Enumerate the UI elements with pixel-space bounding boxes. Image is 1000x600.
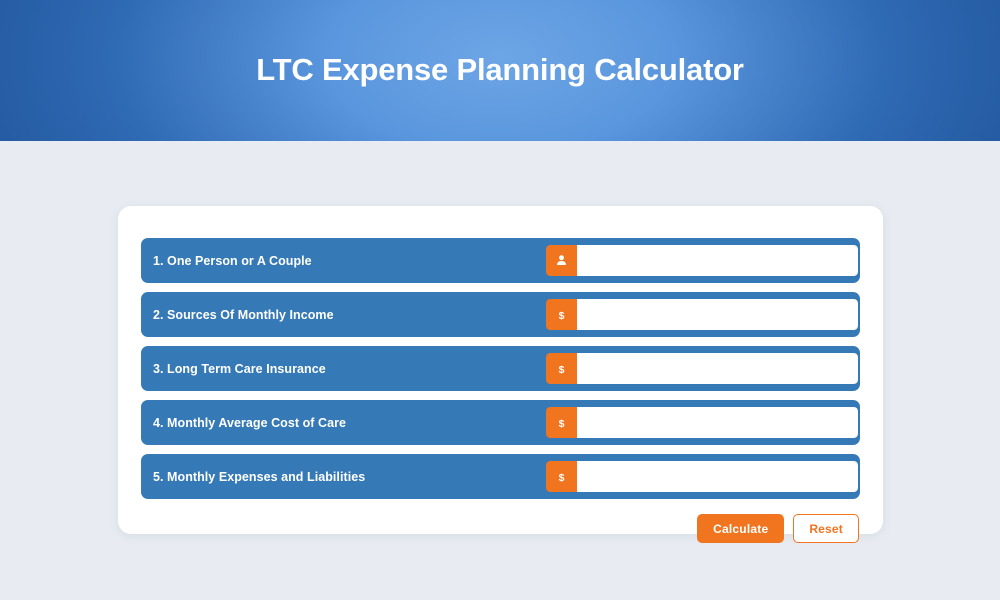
caret-up-icon[interactable] [833,308,847,322]
page-title: LTC Expense Planning Calculator [256,54,744,85]
caret-up-icon[interactable] [833,362,847,376]
dollar-icon: $ [546,299,577,330]
calculator-card: 1. One Person or A Couple 2. Sou [118,206,883,534]
input-group: $ [546,407,858,438]
caret-up-icon[interactable] [833,470,847,484]
accordion-row[interactable]: 4. Monthly Average Cost of Care $ [141,400,860,445]
input-group: $ [546,353,858,384]
dollar-icon: $ [546,407,577,438]
row-value-input[interactable] [577,299,858,330]
dollar-icon: $ [546,461,577,492]
caret-up-icon[interactable] [833,254,847,268]
page-body: 1. One Person or A Couple 2. Sou [0,141,1000,600]
row-value-input[interactable] [577,407,858,438]
accordion-row-label: 3. Long Term Care Insurance [153,362,326,376]
caret-up-icon[interactable] [833,416,847,430]
dollar-icon: $ [546,353,577,384]
svg-text:$: $ [559,471,565,483]
accordion-row-label: 1. One Person or A Couple [153,254,312,268]
reset-button[interactable]: Reset [793,514,859,543]
accordion-row-label: 5. Monthly Expenses and Liabilities [153,470,365,484]
svg-text:$: $ [559,309,565,321]
accordion-row[interactable]: 3. Long Term Care Insurance $ [141,346,860,391]
svg-text:$: $ [559,363,565,375]
input-group: $ [546,299,858,330]
person-icon [546,245,577,276]
action-bar: Calculate Reset [141,514,860,543]
row-value-input[interactable] [577,245,858,276]
calculate-button[interactable]: Calculate [697,514,784,543]
page-header: LTC Expense Planning Calculator [0,0,1000,141]
input-group [546,245,858,276]
svg-text:$: $ [559,417,565,429]
accordion-row-label: 2. Sources Of Monthly Income [153,308,334,322]
row-value-input[interactable] [577,353,858,384]
accordion-row[interactable]: 5. Monthly Expenses and Liabilities $ [141,454,860,499]
row-value-input[interactable] [577,461,858,492]
accordion-row[interactable]: 1. One Person or A Couple [141,238,860,283]
accordion-row-label: 4. Monthly Average Cost of Care [153,416,346,430]
input-group: $ [546,461,858,492]
accordion-row[interactable]: 2. Sources Of Monthly Income $ [141,292,860,337]
accordion-row-list: 1. One Person or A Couple 2. Sou [141,238,860,499]
